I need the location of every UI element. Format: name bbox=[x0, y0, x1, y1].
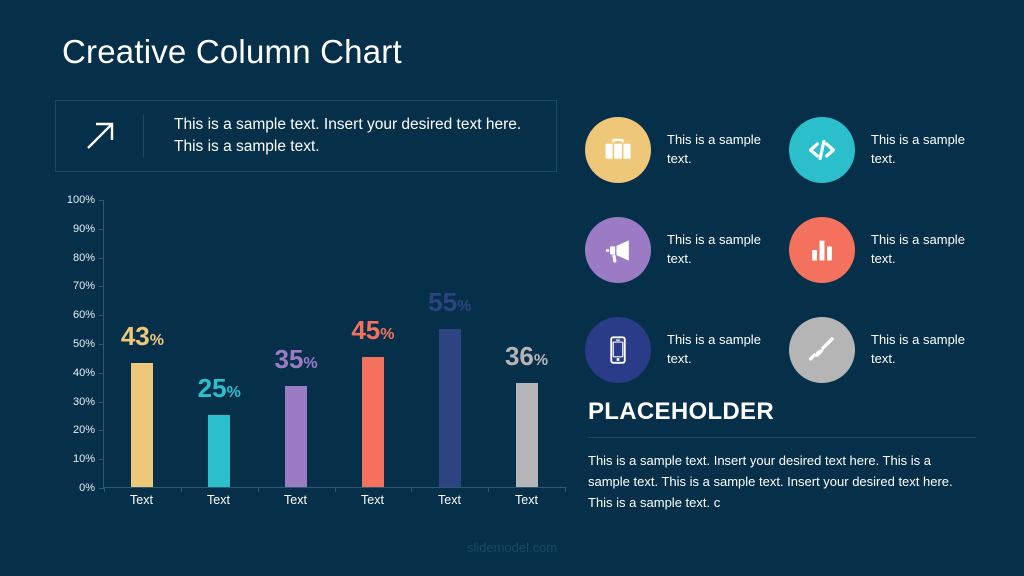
y-axis-tick-mark bbox=[99, 286, 104, 287]
y-axis-tick-label: 100% bbox=[67, 194, 95, 206]
bar-slot: 45% bbox=[334, 200, 411, 487]
x-axis-tick-mark bbox=[181, 487, 182, 492]
x-axis-tick-label: Text bbox=[103, 493, 180, 507]
icon-feature-label: This is a sample text. bbox=[667, 231, 772, 269]
y-axis-tick-label: 40% bbox=[73, 367, 95, 379]
bar-slot: 43% bbox=[104, 200, 181, 487]
icon-grid: This is a sample text.This is a sample t… bbox=[585, 100, 983, 400]
y-axis-tick-mark bbox=[99, 258, 104, 259]
callout-box: This is a sample text. Insert your desir… bbox=[55, 100, 557, 172]
bar-chart-icon bbox=[789, 217, 855, 283]
x-axis-tick-mark bbox=[565, 487, 566, 492]
percent-symbol: % bbox=[380, 326, 394, 343]
icon-feature-item[interactable]: This is a sample text. bbox=[585, 100, 779, 200]
icon-feature-label: This is a sample text. bbox=[871, 231, 976, 269]
y-axis-tick-mark bbox=[99, 402, 104, 403]
x-axis-tick-label: Text bbox=[488, 493, 565, 507]
icon-feature-item[interactable]: This is a sample text. bbox=[585, 300, 779, 400]
bar-value-number: 35 bbox=[274, 344, 303, 374]
x-axis-tick-mark bbox=[411, 487, 412, 492]
bar-value-label: 35% bbox=[274, 346, 317, 372]
percent-symbol: % bbox=[227, 384, 241, 401]
y-axis-tick-mark bbox=[99, 229, 104, 230]
icon-feature-item[interactable]: This is a sample text. bbox=[789, 200, 983, 300]
bar-value-number: 25 bbox=[198, 373, 227, 403]
watermark: slidemodel.com bbox=[0, 540, 1024, 555]
bar[interactable] bbox=[208, 415, 230, 487]
y-axis-tick-mark bbox=[99, 459, 104, 460]
bar-value-label: 25% bbox=[198, 375, 241, 401]
bar-value-number: 43 bbox=[121, 321, 150, 351]
icon-feature-item[interactable]: This is a sample text. bbox=[789, 100, 983, 200]
icon-feature-item[interactable]: This is a sample text. bbox=[585, 200, 779, 300]
paintbrush-icon bbox=[789, 317, 855, 383]
bar-value-label: 43% bbox=[121, 323, 164, 349]
bar-series: 43%25%35%45%55%36% bbox=[104, 200, 565, 487]
x-axis-tick-mark bbox=[104, 487, 105, 492]
y-axis-tick-mark bbox=[99, 430, 104, 431]
y-axis-tick-label: 10% bbox=[73, 453, 95, 465]
x-axis-tick-mark bbox=[258, 487, 259, 492]
x-axis-tick-mark bbox=[335, 487, 336, 492]
x-axis-tick-label: Text bbox=[180, 493, 257, 507]
bar-slot: 55% bbox=[411, 200, 488, 487]
icon-feature-label: This is a sample text. bbox=[871, 131, 976, 169]
bar[interactable] bbox=[285, 386, 307, 487]
y-axis-tick-label: 0% bbox=[79, 482, 95, 494]
plot-area: 43%25%35%45%55%36% bbox=[103, 200, 565, 488]
smartphone-icon bbox=[585, 317, 651, 383]
icon-feature-item[interactable]: This is a sample text. bbox=[789, 300, 983, 400]
y-axis-tick-label: 90% bbox=[73, 223, 95, 235]
page-title: Creative Column Chart bbox=[62, 33, 402, 71]
placeholder-title: PLACEHOLDER bbox=[588, 398, 976, 426]
bar[interactable] bbox=[362, 357, 384, 487]
slide-canvas: { "slide": { "title": "Creative Column C… bbox=[0, 0, 1024, 576]
y-axis-tick-label: 50% bbox=[73, 338, 95, 350]
y-axis-tick-label: 20% bbox=[73, 424, 95, 436]
arrow-up-right-icon bbox=[56, 101, 144, 171]
percent-symbol: % bbox=[457, 298, 471, 315]
bar-value-number: 45 bbox=[351, 315, 380, 345]
megaphone-icon bbox=[585, 217, 651, 283]
bar-slot: 35% bbox=[258, 200, 335, 487]
bar[interactable] bbox=[439, 329, 461, 487]
icon-feature-label: This is a sample text. bbox=[871, 331, 976, 369]
bar-value-number: 55 bbox=[428, 287, 457, 317]
bar-slot: 25% bbox=[181, 200, 258, 487]
placeholder-section: PLACEHOLDER This is a sample text. Inser… bbox=[588, 398, 976, 513]
bar-value-label: 55% bbox=[428, 289, 471, 315]
y-axis-tick-mark bbox=[99, 344, 104, 345]
y-axis-tick-label: 70% bbox=[73, 280, 95, 292]
x-axis-tick-label: Text bbox=[411, 493, 488, 507]
icon-feature-label: This is a sample text. bbox=[667, 131, 772, 169]
y-axis-labels: 100%90%80%70%60%50%40%30%20%10%0% bbox=[55, 200, 95, 488]
column-chart: 100%90%80%70%60%50%40%30%20%10%0% 43%25%… bbox=[55, 200, 565, 520]
y-axis-tick-label: 30% bbox=[73, 396, 95, 408]
placeholder-body: This is a sample text. Insert your desir… bbox=[588, 450, 976, 513]
y-axis-tick-label: 80% bbox=[73, 252, 95, 264]
x-axis-tick-label: Text bbox=[334, 493, 411, 507]
x-axis-labels: TextTextTextTextTextText bbox=[103, 493, 565, 507]
icon-feature-label: This is a sample text. bbox=[667, 331, 772, 369]
x-axis-tick-label: Text bbox=[257, 493, 334, 507]
percent-symbol: % bbox=[534, 352, 548, 369]
y-axis-tick-mark bbox=[99, 200, 104, 201]
callout-text: This is a sample text. Insert your desir… bbox=[144, 114, 556, 159]
code-brackets-icon bbox=[789, 117, 855, 183]
briefcase-icon bbox=[585, 117, 651, 183]
percent-symbol: % bbox=[303, 355, 317, 372]
bar-value-label: 45% bbox=[351, 317, 394, 343]
bar[interactable] bbox=[516, 383, 538, 487]
percent-symbol: % bbox=[150, 332, 164, 349]
divider bbox=[588, 437, 976, 438]
bar-value-number: 36 bbox=[505, 341, 534, 371]
y-axis-tick-label: 60% bbox=[73, 309, 95, 321]
x-axis-tick-mark bbox=[488, 487, 489, 492]
bar[interactable] bbox=[131, 363, 153, 487]
y-axis-tick-mark bbox=[99, 373, 104, 374]
y-axis-tick-mark bbox=[99, 315, 104, 316]
bar-value-label: 36% bbox=[505, 343, 548, 369]
bar-slot: 36% bbox=[488, 200, 565, 487]
